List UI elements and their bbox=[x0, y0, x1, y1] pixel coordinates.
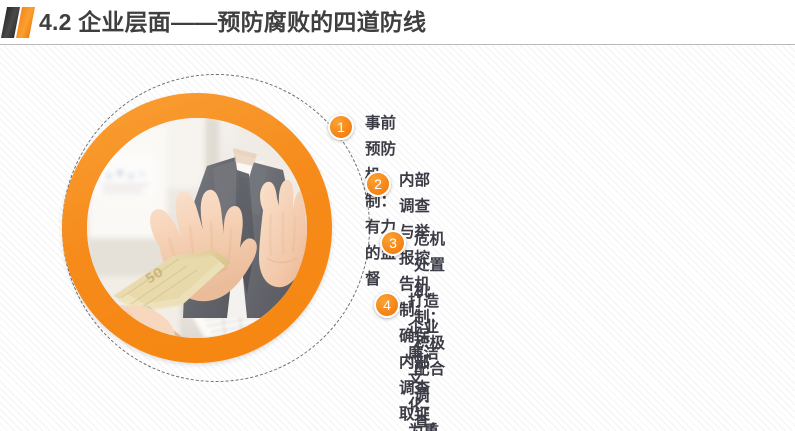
slide-root: 4.2 企业层面——预防腐败的四道防线 bbox=[0, 0, 795, 431]
bullet-text-4: 打造企业廉洁文化：为重点岗位人员提供专 项培训 bbox=[408, 288, 439, 431]
bullet-number-badge-1: 1 bbox=[328, 114, 354, 140]
bullet-number-badge-2: 2 bbox=[365, 171, 391, 197]
bullet-number-badge-3: 3 bbox=[380, 230, 406, 256]
bullet-number-badge-4: 4 bbox=[374, 292, 400, 318]
defense-lines-list: 1 事前预防机制：有力的监督 2 内部调查与举报控告机制：确保内部调查 取证的有… bbox=[0, 0, 795, 431]
bullet-text-1: 事前预防机制：有力的监督 bbox=[365, 110, 396, 292]
